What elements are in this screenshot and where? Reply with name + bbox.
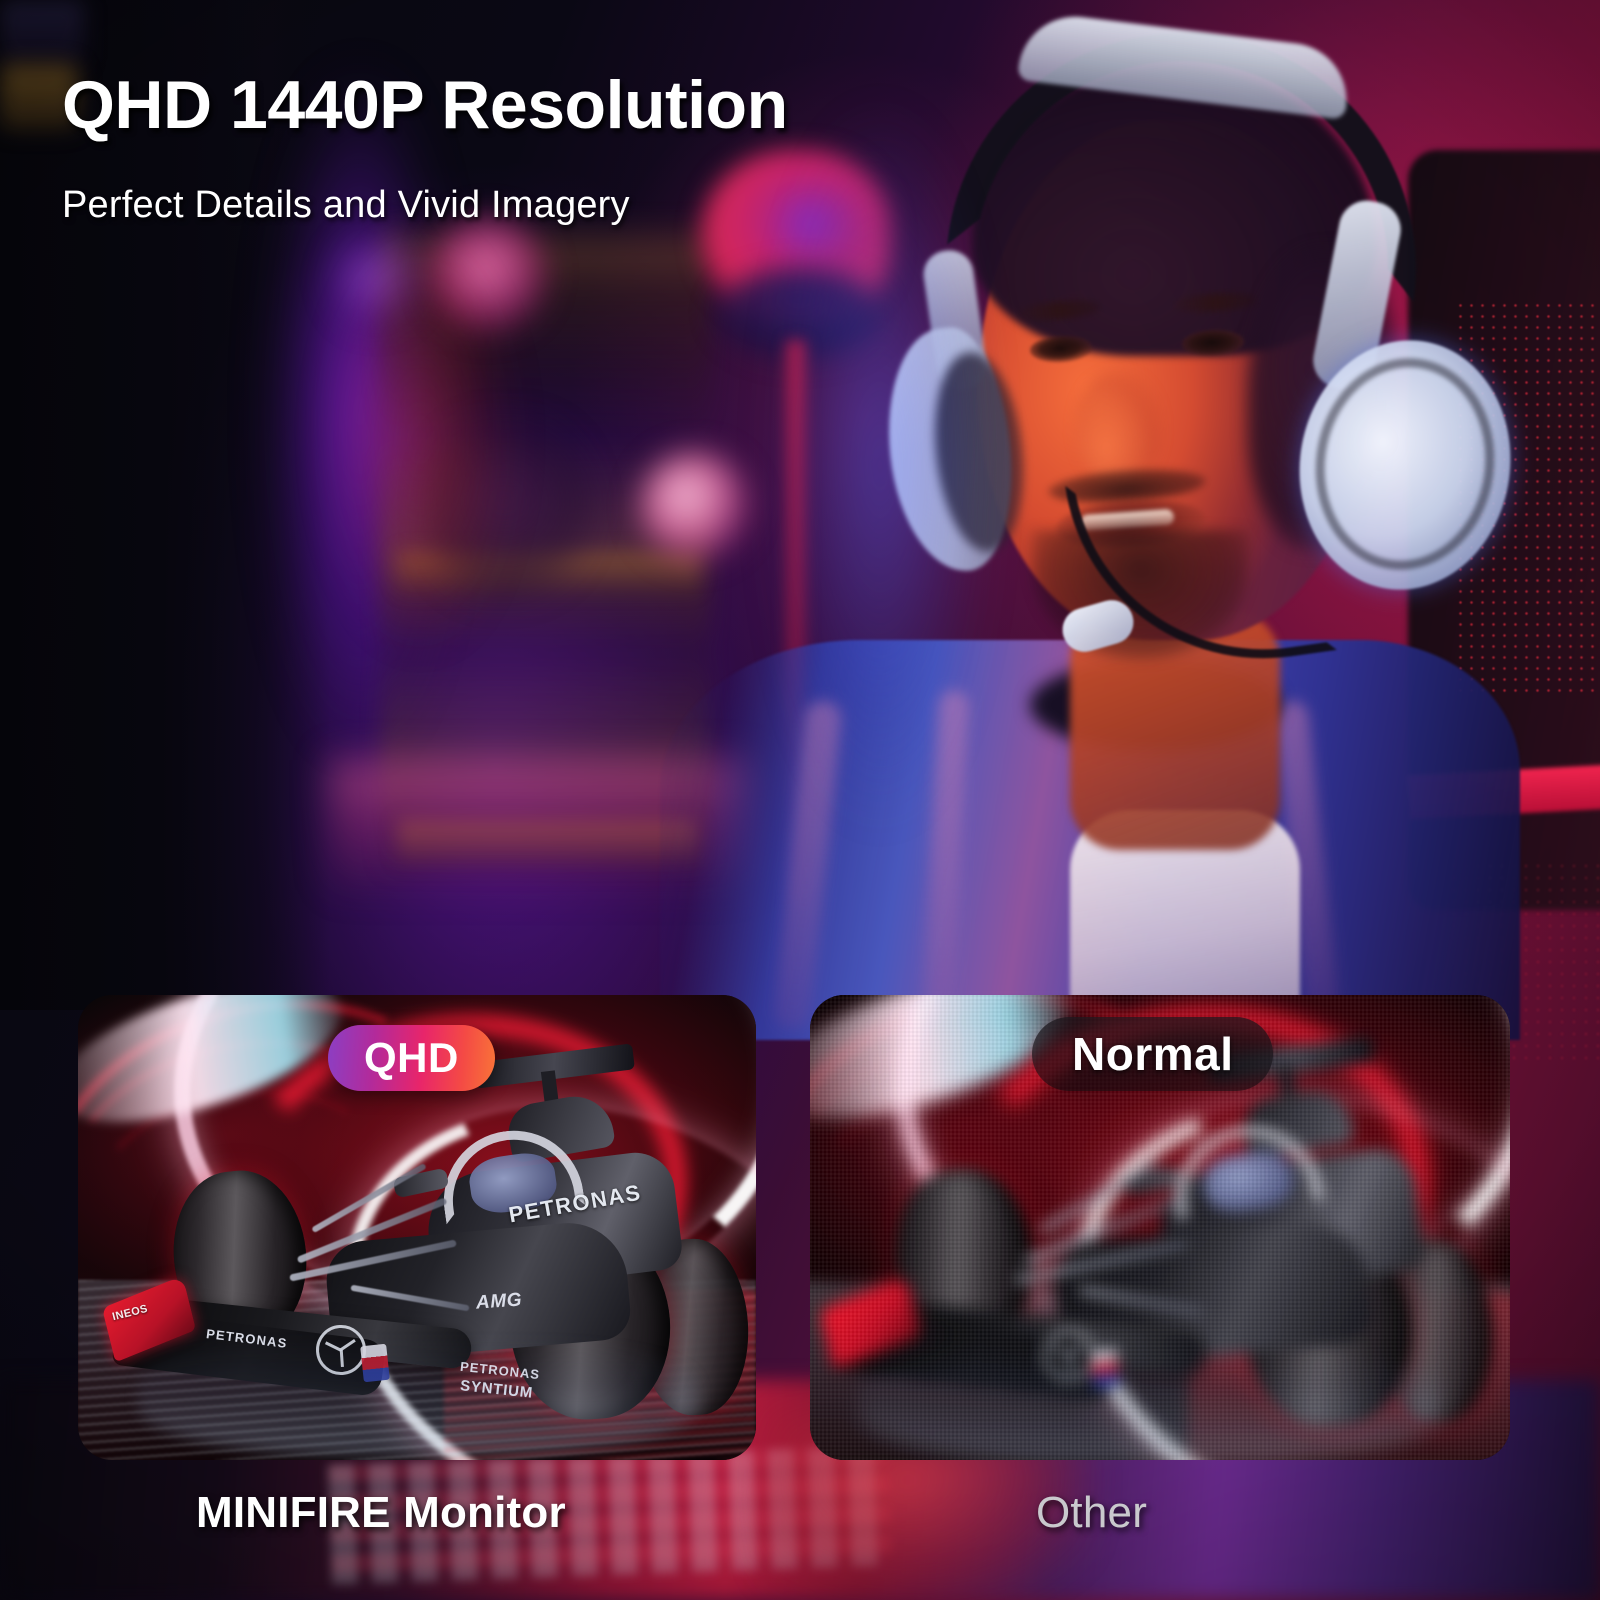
caption-minifire-monitor: MINIFIRE Monitor bbox=[196, 1488, 566, 1538]
car-floor-reflection bbox=[138, 1336, 698, 1456]
panel-normal[interactable]: Normal bbox=[810, 995, 1510, 1460]
blue-rim-light bbox=[740, 60, 1020, 960]
suspension-arm bbox=[311, 1163, 427, 1233]
car-floor-reflection bbox=[858, 1340, 1440, 1460]
page-subtitle: Perfect Details and Vivid Imagery bbox=[62, 184, 630, 227]
panel-qhd[interactable]: INEOS PETRONAS AMG PETRONAS PETRONAS SYN… bbox=[78, 995, 756, 1460]
qhd-badge: QHD bbox=[328, 1025, 495, 1091]
normal-badge: Normal bbox=[1032, 1017, 1273, 1091]
nose bbox=[1076, 372, 1162, 482]
livery-amg: AMG bbox=[475, 1289, 523, 1314]
suspension-arm bbox=[1039, 1160, 1159, 1233]
page-title: QHD 1440P Resolution bbox=[62, 66, 788, 144]
caption-other: Other bbox=[1036, 1488, 1147, 1538]
marketing-banner: QHD 1440P Resolution Perfect Details and… bbox=[0, 0, 1600, 1600]
red-key-light bbox=[300, 180, 540, 700]
plant-pot bbox=[0, 0, 84, 64]
